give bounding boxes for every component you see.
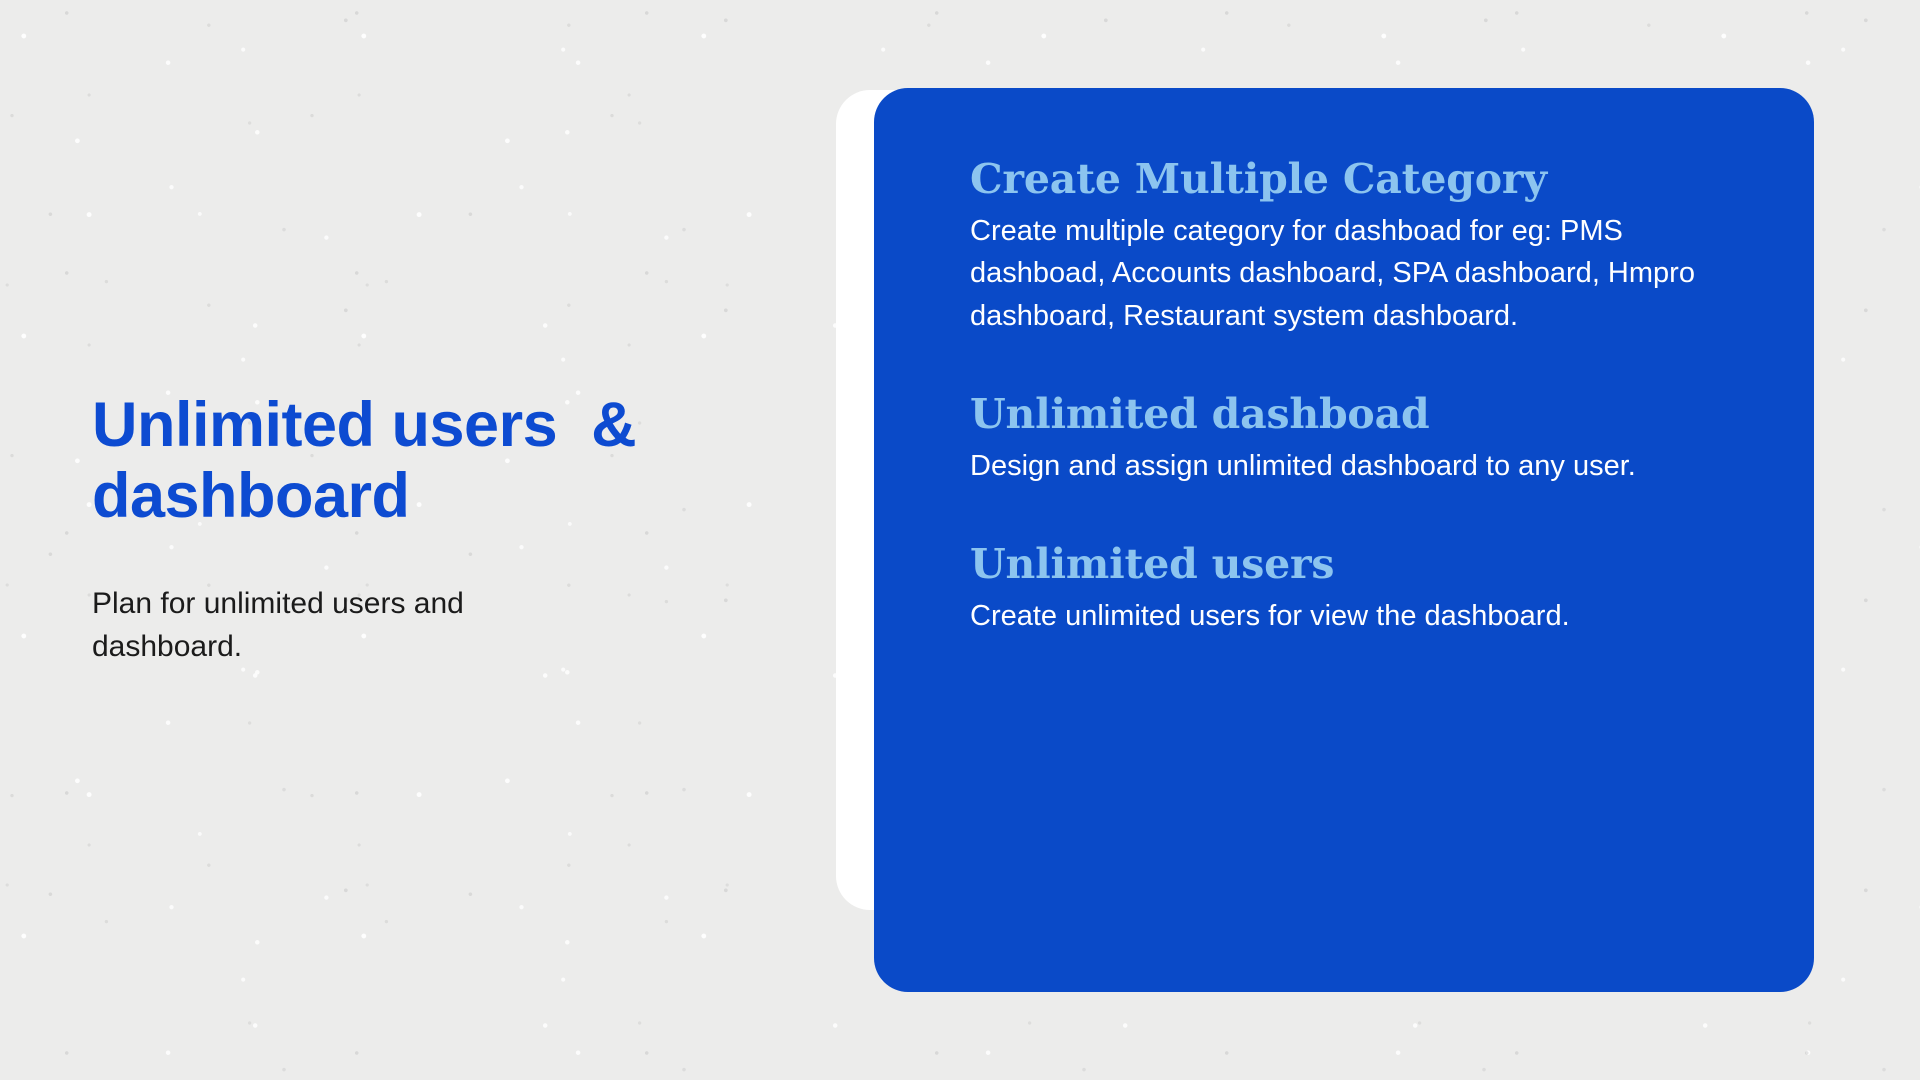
feature-item-unlimited-users: Unlimited users Create unlimited users f… (970, 539, 1754, 637)
feature-body: Create unlimited users for view the dash… (970, 595, 1710, 637)
page-subtitle: Plan for unlimited users and dashboard. (92, 531, 612, 668)
feature-card: Create Multiple Category Create multiple… (874, 88, 1814, 992)
feature-item-create-multiple-category: Create Multiple Category Create multiple… (970, 154, 1754, 337)
feature-heading: Unlimited users (970, 539, 1754, 589)
intro-column: Unlimited users & dashboard Plan for unl… (92, 390, 772, 668)
feature-body: Design and assign unlimited dashboard to… (970, 445, 1710, 487)
feature-item-unlimited-dashboad: Unlimited dashboad Design and assign unl… (970, 389, 1754, 487)
feature-body: Create multiple category for dashboad fo… (970, 210, 1710, 337)
page-title: Unlimited users & dashboard (92, 390, 772, 531)
feature-heading: Create Multiple Category (970, 154, 1754, 204)
feature-heading: Unlimited dashboad (970, 389, 1754, 439)
feature-card-stack: Create Multiple Category Create multiple… (836, 88, 1814, 992)
